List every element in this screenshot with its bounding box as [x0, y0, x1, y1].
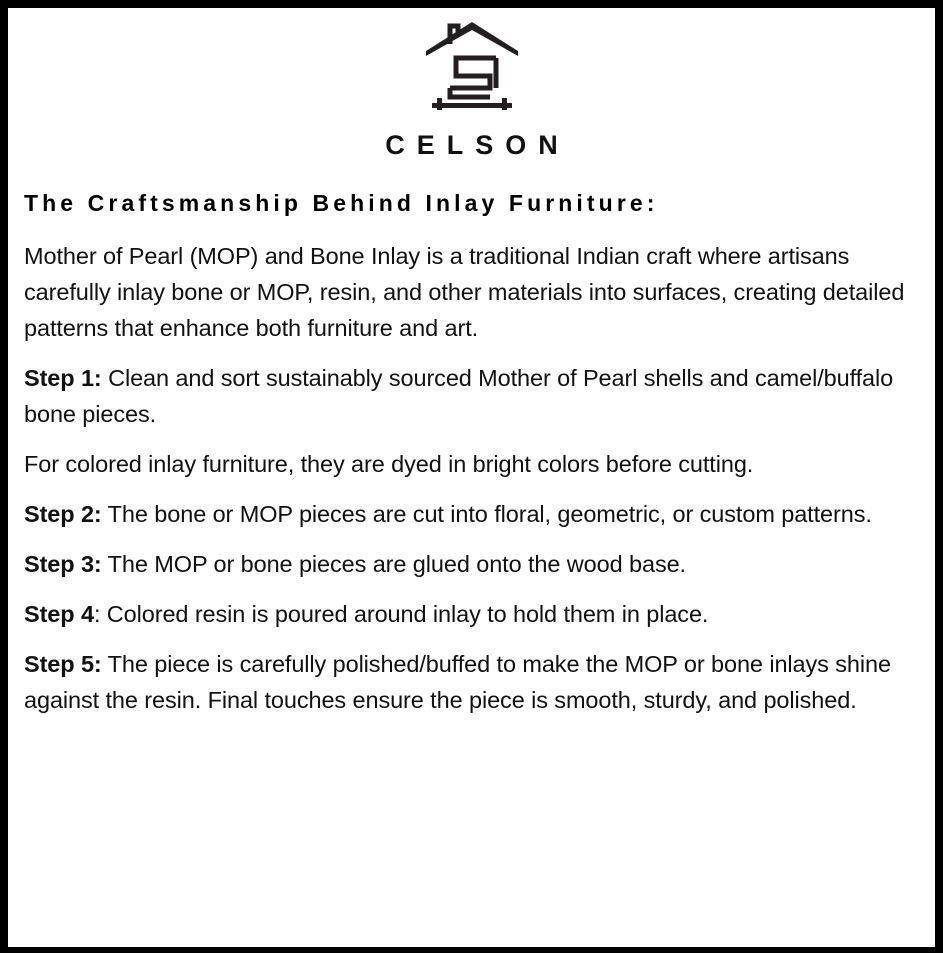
step-2-label: Step 2: — [24, 501, 102, 527]
page-title: The Craftsmanship Behind Inlay Furniture… — [24, 190, 927, 218]
intro-paragraph: Mother of Pearl (MOP) and Bone Inlay is … — [24, 238, 924, 346]
step-4-paragraph: Step 4: Colored resin is poured around i… — [24, 596, 924, 632]
brand-wordmark: CELSON — [16, 132, 927, 159]
step-1-paragraph: Step 1: Clean and sort sustainably sourc… — [24, 360, 924, 432]
step-4-text: : Colored resin is poured around inlay t… — [94, 601, 708, 627]
house-monogram-logo-icon — [420, 18, 524, 118]
poster-card: CELSON The Craftsmanship Behind Inlay Fu… — [0, 0, 943, 953]
step-5-label: Step 5: — [24, 651, 102, 677]
step-3-text: The MOP or bone pieces are glued onto th… — [102, 551, 686, 577]
step-3-paragraph: Step 3: The MOP or bone pieces are glued… — [24, 546, 924, 582]
body-content: Mother of Pearl (MOP) and Bone Inlay is … — [24, 218, 924, 718]
step-2-text: The bone or MOP pieces are cut into flor… — [102, 501, 872, 527]
brand-header: CELSON — [16, 8, 927, 159]
step-1-label: Step 1: — [24, 365, 102, 391]
step-4-label: Step 4 — [24, 601, 94, 627]
step-5-paragraph: Step 5: The piece is carefully polished/… — [24, 646, 924, 718]
step-3-label: Step 3: — [24, 551, 102, 577]
step-5-text: The piece is carefully polished/buffed t… — [24, 651, 891, 713]
dyeing-note-paragraph: For colored inlay furniture, they are dy… — [24, 446, 924, 482]
step-2-paragraph: Step 2: The bone or MOP pieces are cut i… — [24, 496, 924, 532]
step-1-text: Clean and sort sustainably sourced Mothe… — [24, 365, 893, 427]
poster-inner: CELSON The Craftsmanship Behind Inlay Fu… — [8, 8, 935, 947]
